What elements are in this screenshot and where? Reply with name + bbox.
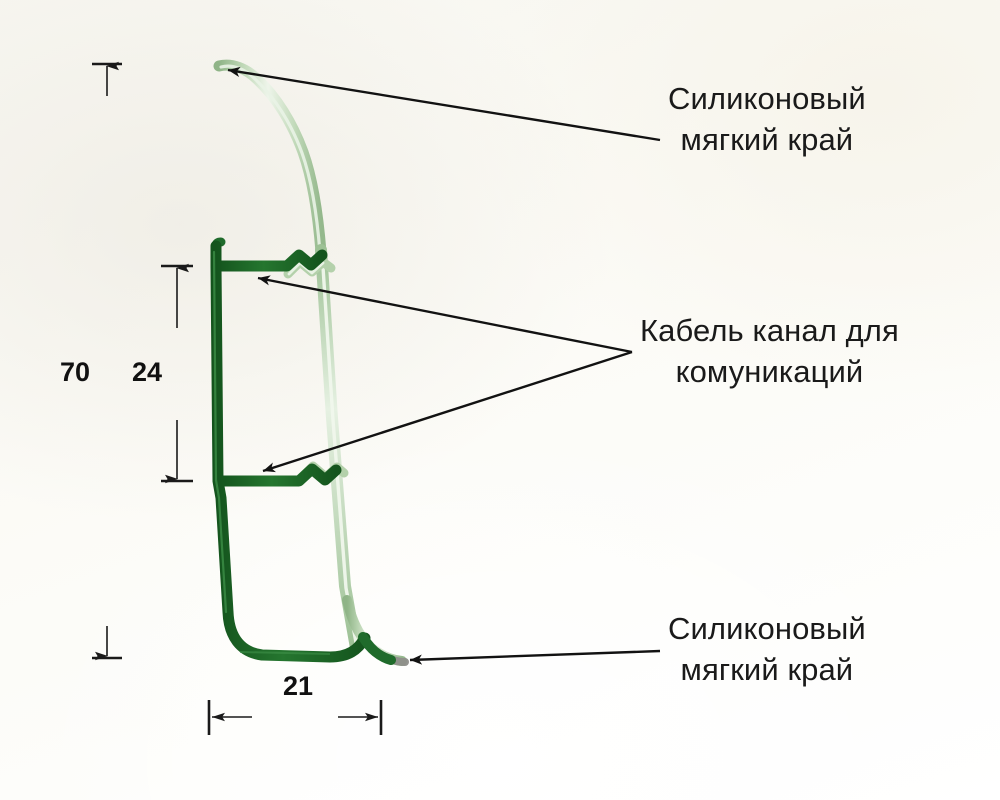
silicone-top-edge-highlight <box>221 66 320 253</box>
callout-bottom-silicone-line1: Силиконовый <box>668 608 866 649</box>
leader-cable-upper <box>258 278 632 352</box>
leader-bottom-silicone <box>410 651 660 660</box>
callout-top-silicone: Силиконовый мягкий край <box>668 78 866 160</box>
callout-cable-channel-line1: Кабель канал для <box>640 310 899 351</box>
callout-top-silicone-line1: Силиконовый <box>668 78 866 119</box>
callout-cable-channel-line2: комуникаций <box>640 351 899 392</box>
callout-bottom-silicone-line2: мягкий край <box>668 649 866 690</box>
plinth-body <box>214 242 391 660</box>
callout-bottom-silicone: Силиконовый мягкий край <box>668 608 866 690</box>
cable-channel-top-shelf <box>216 255 322 266</box>
cable-channel-bottom-shelf <box>219 469 336 481</box>
diagram-canvas: Силиконовый мягкий край Кабель канал для… <box>0 0 1000 800</box>
silicone-layer <box>219 65 405 662</box>
dimension-label-70: 70 <box>60 357 90 388</box>
dimension-70 <box>92 64 122 658</box>
leader-cable-lower <box>263 352 632 471</box>
callout-top-silicone-line2: мягкий край <box>668 119 866 160</box>
body-bottom-kick <box>363 637 391 660</box>
callout-cable-channel: Кабель канал для комуникаций <box>640 310 899 392</box>
dimension-label-24: 24 <box>132 357 162 388</box>
leader-lines <box>228 70 660 660</box>
dimension-21 <box>209 700 381 735</box>
dimension-label-21: 21 <box>283 671 313 702</box>
dimension-24 <box>161 266 193 481</box>
